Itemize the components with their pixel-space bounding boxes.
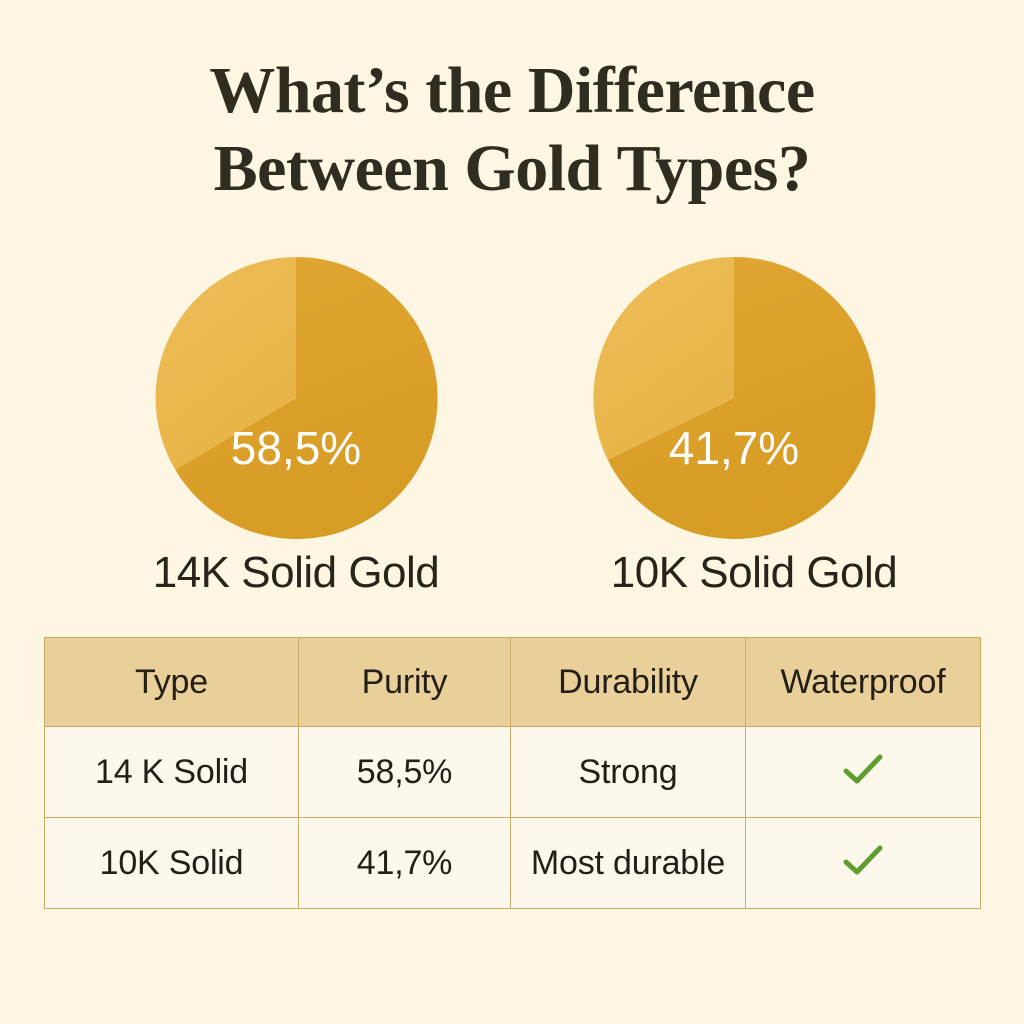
table-header: Type Purity Durability Waterproof [45, 638, 981, 727]
chart-captions: 14K Solid Gold 10K Solid Gold [0, 548, 1024, 610]
table-body: 14 K Solid 58,5% Strong 10K Solid 41,7% [45, 727, 981, 909]
page-title: What’s the Difference Between Gold Types… [0, 52, 1024, 208]
cell-type-10k: 10K Solid [45, 818, 299, 909]
cell-waterproof-10k [746, 818, 981, 909]
cell-waterproof-14k [746, 727, 981, 818]
pie-chart-14k-svg [151, 253, 441, 543]
column-header-type: Type [45, 638, 299, 727]
cell-purity-10k: 41,7% [299, 818, 511, 909]
charts-row: 58,5% 41,7% [0, 253, 1024, 543]
infographic-canvas: What’s the Difference Between Gold Types… [0, 0, 1024, 1024]
column-header-waterproof: Waterproof [746, 638, 981, 727]
cell-type-14k: 14 K Solid [45, 727, 299, 818]
pie-chart-14k: 58,5% [151, 253, 441, 543]
table-header-row: Type Purity Durability Waterproof [45, 638, 981, 727]
comparison-table-wrapper: Type Purity Durability Waterproof 14 K S… [44, 637, 980, 908]
cell-durability-14k: Strong [511, 727, 746, 818]
column-header-purity: Purity [299, 638, 511, 727]
pie-chart-10k-svg [589, 253, 879, 543]
cell-durability-10k: Most durable [511, 818, 746, 909]
check-icon [843, 845, 883, 877]
check-icon [843, 754, 883, 786]
comparison-table: Type Purity Durability Waterproof 14 K S… [44, 637, 981, 909]
chart-caption-14k: 14K Solid Gold [86, 548, 506, 598]
column-header-durability: Durability [511, 638, 746, 727]
page-title-line-2: Between Gold Types? [0, 130, 1024, 208]
pie-chart-10k: 41,7% [589, 253, 879, 543]
table-row: 10K Solid 41,7% Most durable [45, 818, 981, 909]
page-title-line-1: What’s the Difference [0, 52, 1024, 130]
table-row: 14 K Solid 58,5% Strong [45, 727, 981, 818]
chart-caption-10k: 10K Solid Gold [544, 548, 964, 598]
cell-purity-14k: 58,5% [299, 727, 511, 818]
